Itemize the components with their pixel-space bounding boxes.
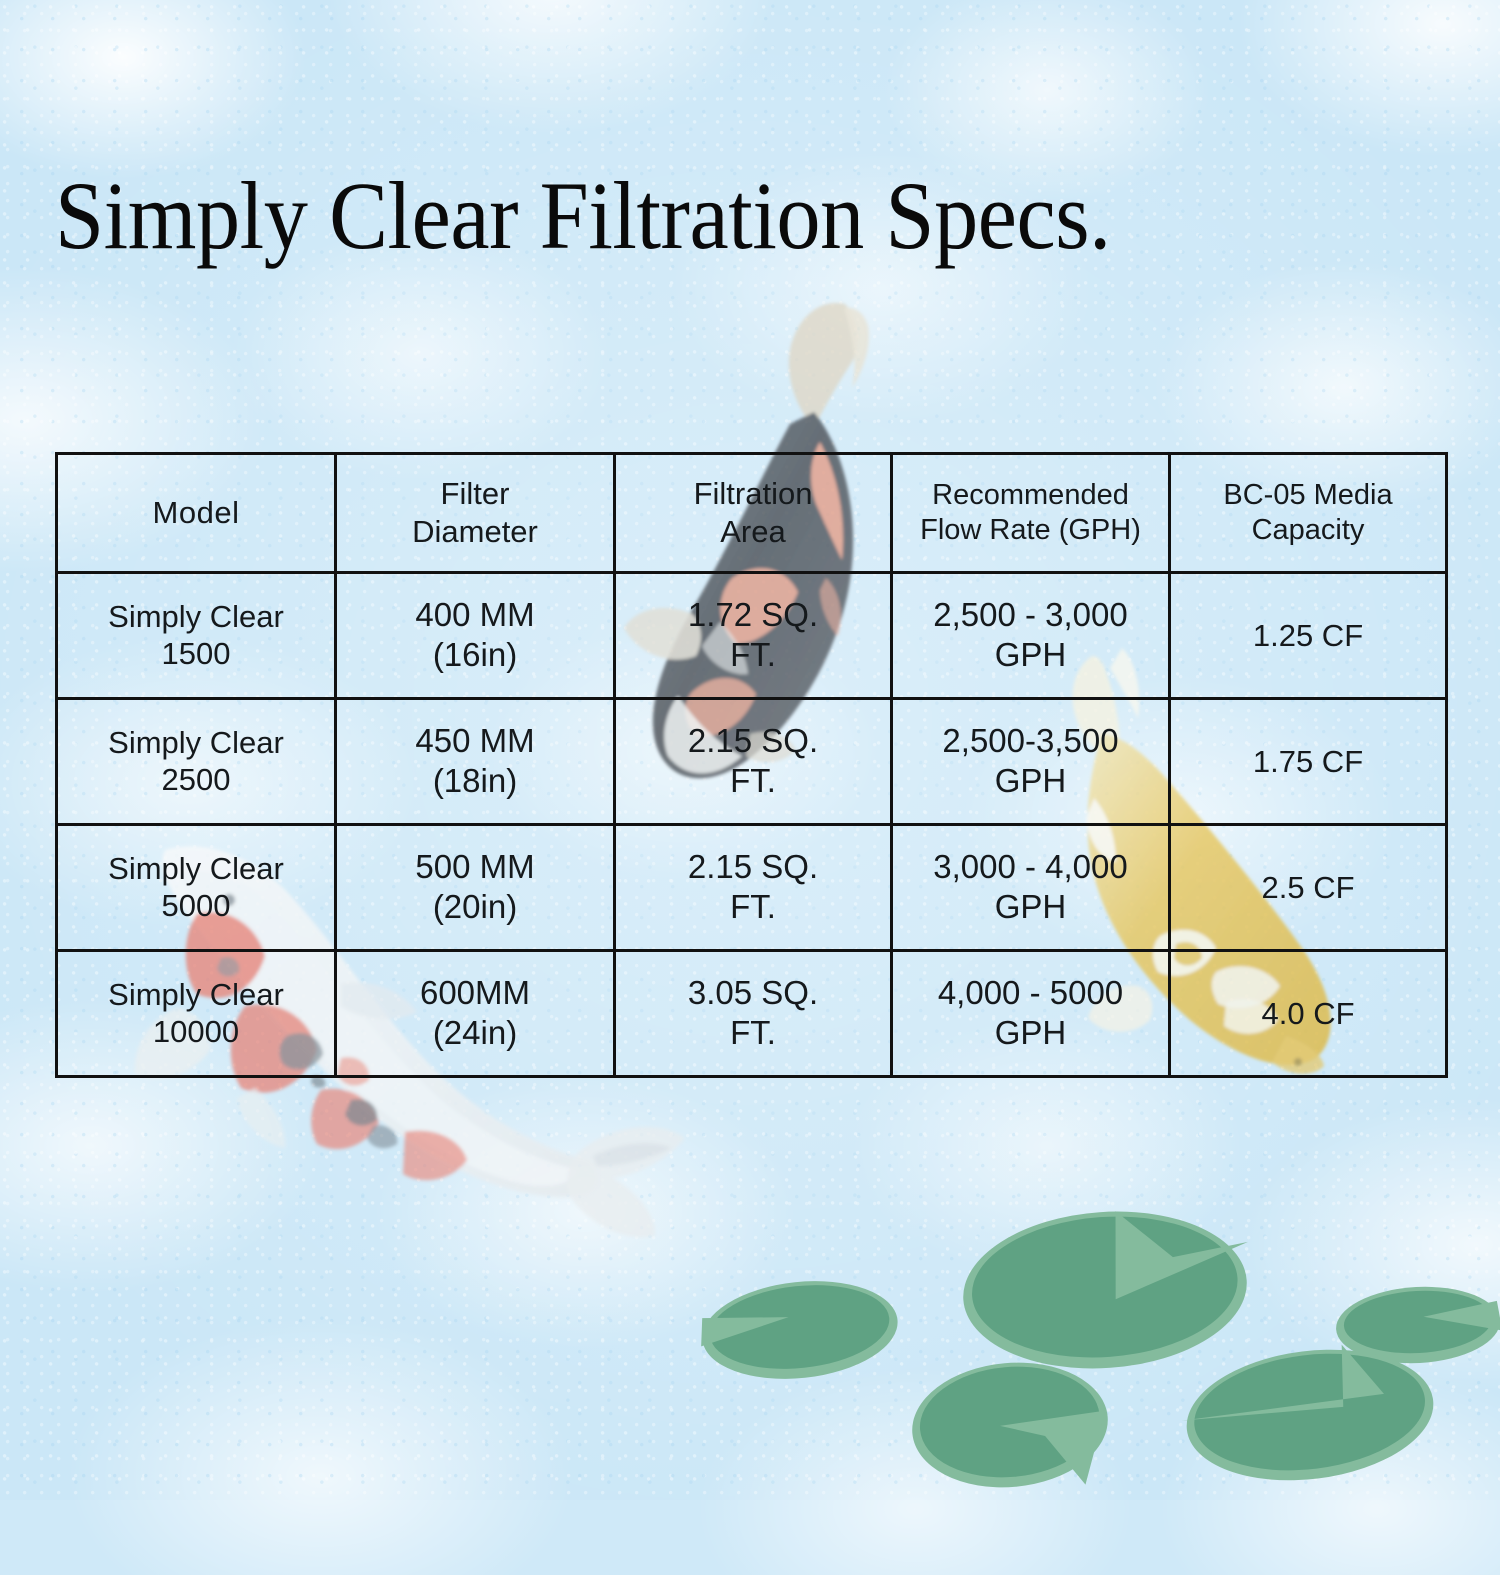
diameter-in: (18in) [433, 762, 517, 799]
diameter-mm: 400 MM [415, 596, 534, 633]
flow-range: 4,000 - 5000 [938, 974, 1123, 1011]
cell-model: Simply Clear 1500 [57, 572, 336, 698]
area-value: 2.15 SQ. [688, 848, 818, 885]
diameter-in: (24in) [433, 1014, 517, 1051]
header-line-2: Diameter [412, 514, 538, 549]
diameter-mm: 500 MM [415, 848, 534, 885]
cell-media-capacity: 1.25 CF [1170, 572, 1447, 698]
cell-filtration-area: 1.72 SQ. FT. [615, 572, 892, 698]
cell-flow-rate: 2,500-3,500 GPH [892, 698, 1170, 824]
diameter-in: (20in) [433, 888, 517, 925]
column-header-flow-rate: Recommended Flow Rate (GPH) [892, 454, 1170, 573]
cell-filter-diameter: 600MM (24in) [336, 950, 615, 1076]
cell-flow-rate: 4,000 - 5000 GPH [892, 950, 1170, 1076]
cell-model: Simply Clear 10000 [57, 950, 336, 1076]
flow-range: 2,500-3,500 [942, 722, 1118, 759]
area-value: 3.05 SQ. [688, 974, 818, 1011]
cell-flow-rate: 3,000 - 4,000 GPH [892, 824, 1170, 950]
area-unit: FT. [730, 762, 776, 799]
diameter-mm: 600MM [420, 974, 530, 1011]
cell-media-capacity: 4.0 CF [1170, 950, 1447, 1076]
cell-flow-rate: 2,500 - 3,000 GPH [892, 572, 1170, 698]
header-line-1: Filtration [694, 476, 813, 511]
cell-media-capacity: 2.5 CF [1170, 824, 1447, 950]
page-title: Simply Clear Filtration Specs. [55, 168, 1111, 264]
cell-model: Simply Clear 2500 [57, 698, 336, 824]
cell-filtration-area: 3.05 SQ. FT. [615, 950, 892, 1076]
column-header-filtration-area: Filtration Area [615, 454, 892, 573]
diameter-in: (16in) [433, 636, 517, 673]
model-name: Simply Clear [108, 599, 284, 634]
cell-model: Simply Clear 5000 [57, 824, 336, 950]
lily-pad-2 [958, 1202, 1256, 1378]
model-name: Simply Clear [108, 977, 284, 1012]
flow-unit: GPH [995, 888, 1067, 925]
area-unit: FT. [730, 1014, 776, 1051]
cell-filter-diameter: 450 MM (18in) [336, 698, 615, 824]
model-number: 10000 [153, 1014, 239, 1049]
flow-unit: GPH [995, 636, 1067, 673]
table-row: Simply Clear 10000 600MM (24in) 3.05 SQ.… [57, 950, 1447, 1076]
header-line-2: Area [720, 514, 785, 549]
area-unit: FT. [730, 636, 776, 673]
lily-pad-1 [696, 1272, 903, 1388]
header-line-2: Capacity [1252, 514, 1365, 546]
header-line-1: BC-05 Media [1223, 479, 1392, 511]
table-row: Simply Clear 5000 500 MM (20in) 2.15 SQ.… [57, 824, 1447, 950]
column-header-model: Model [57, 454, 336, 573]
model-name: Simply Clear [108, 725, 284, 760]
area-value: 2.15 SQ. [688, 722, 818, 759]
cell-media-capacity: 1.75 CF [1170, 698, 1447, 824]
model-name: Simply Clear [108, 851, 284, 886]
filtration-specs-table: Model Filter Diameter Filtration Area Re… [55, 452, 1448, 1078]
flow-range: 2,500 - 3,000 [933, 596, 1128, 633]
header-line-1: Filter [441, 476, 510, 511]
column-header-media-capacity: BC-05 Media Capacity [1170, 454, 1447, 573]
flow-range: 3,000 - 4,000 [933, 848, 1128, 885]
model-number: 5000 [162, 888, 231, 923]
table-row: Simply Clear 2500 450 MM (18in) 2.15 SQ.… [57, 698, 1447, 824]
table-header-row: Model Filter Diameter Filtration Area Re… [57, 454, 1447, 573]
header-line-2: Flow Rate (GPH) [920, 514, 1141, 546]
diameter-mm: 450 MM [415, 722, 534, 759]
flow-unit: GPH [995, 1014, 1067, 1051]
header-line-1: Recommended [932, 479, 1129, 511]
column-header-filter-diameter: Filter Diameter [336, 454, 615, 573]
cell-filtration-area: 2.15 SQ. FT. [615, 698, 892, 824]
flow-unit: GPH [995, 762, 1067, 799]
table-row: Simply Clear 1500 400 MM (16in) 1.72 SQ.… [57, 572, 1447, 698]
model-number: 1500 [162, 636, 231, 671]
area-value: 1.72 SQ. [688, 596, 818, 633]
cell-filter-diameter: 400 MM (16in) [336, 572, 615, 698]
area-unit: FT. [730, 888, 776, 925]
cell-filtration-area: 2.15 SQ. FT. [615, 824, 892, 950]
model-number: 2500 [162, 762, 231, 797]
cell-filter-diameter: 500 MM (20in) [336, 824, 615, 950]
lily-pad-4 [907, 1355, 1113, 1500]
